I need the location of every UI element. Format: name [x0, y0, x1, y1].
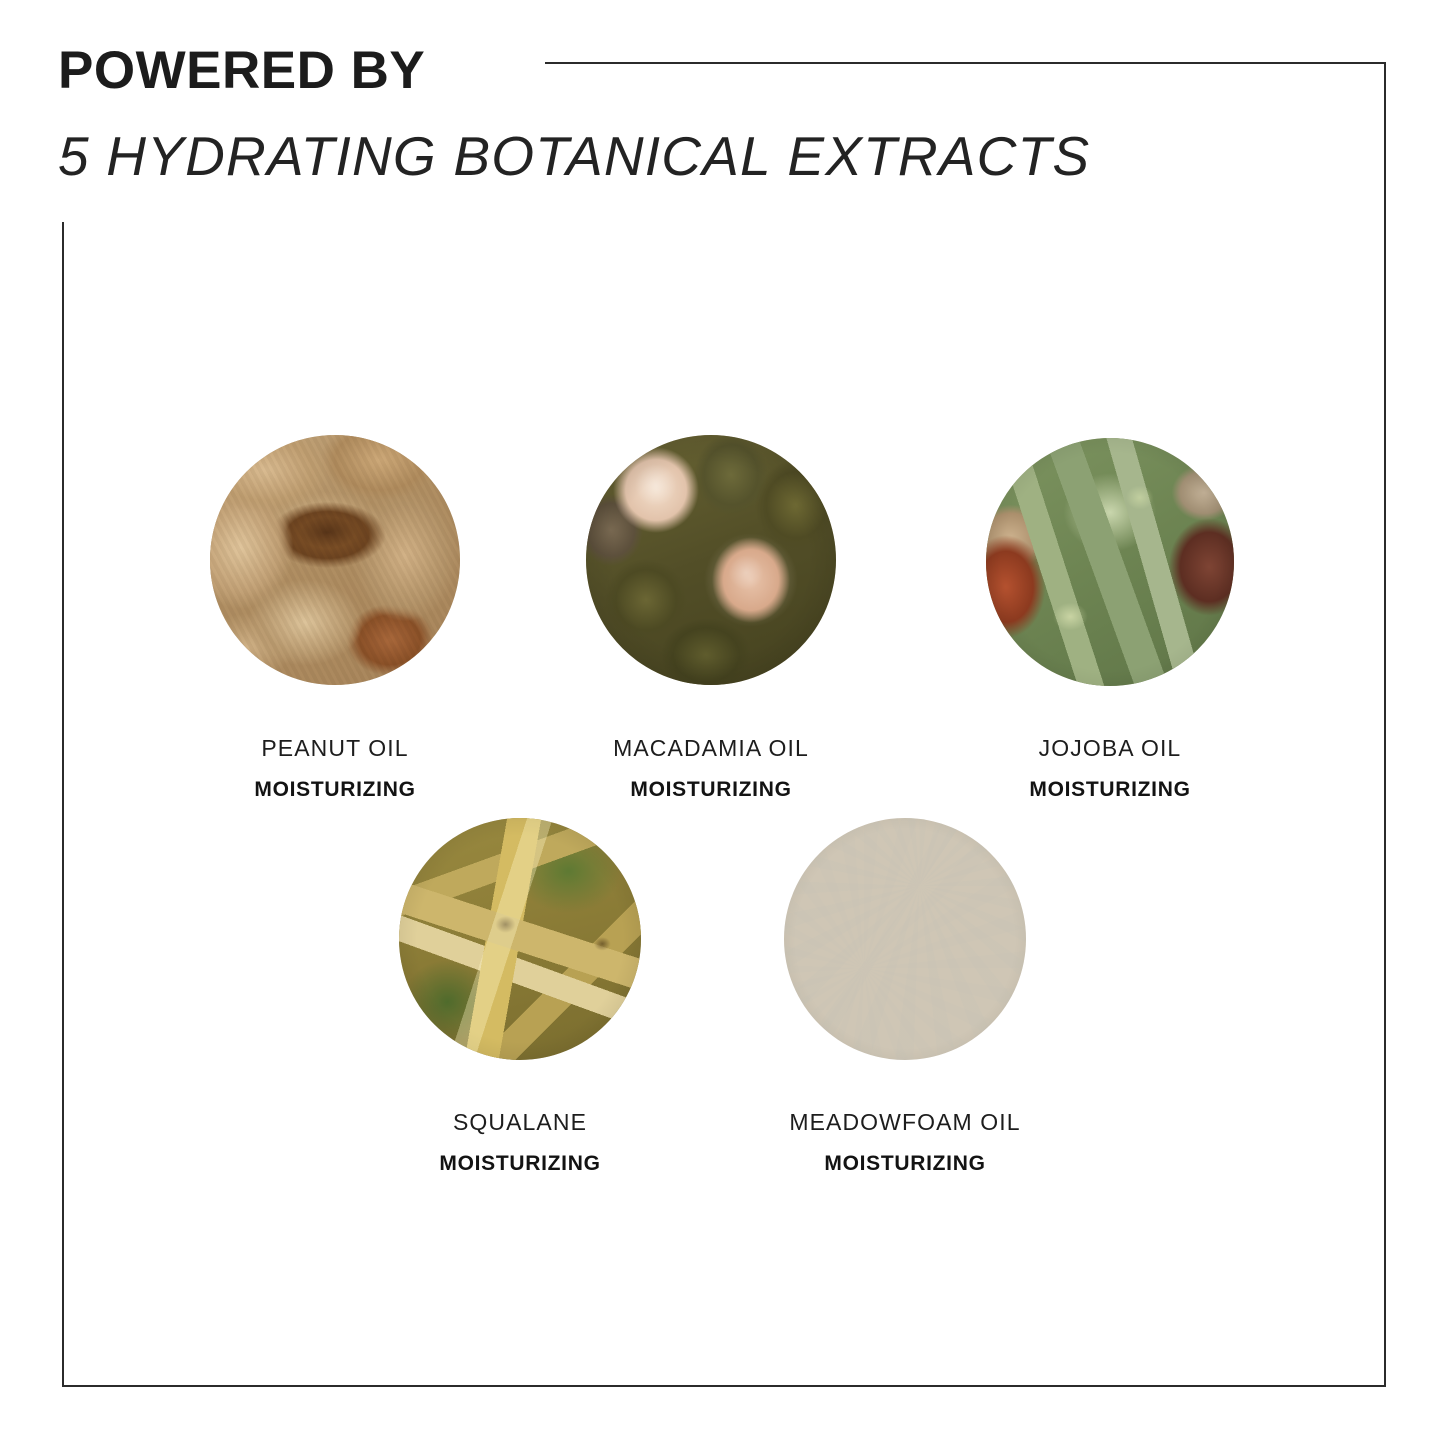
peanut-shells-icon — [210, 435, 460, 685]
frame-right-rule — [1384, 62, 1386, 1387]
ingredient-benefit: MOISTURIZING — [986, 779, 1234, 800]
sugarcane-stalks-icon — [399, 818, 641, 1060]
frame-left-rule — [62, 222, 64, 1387]
ingredient-name: SQUALANE — [399, 1111, 641, 1134]
ingredient-image-peanut-oil — [210, 435, 460, 685]
ingredient-name: JOJOBA OIL — [986, 737, 1234, 760]
ingredient-image-squalane — [399, 818, 641, 1060]
ingredient-name: MEADOWFOAM OIL — [784, 1111, 1026, 1134]
ingredient-image-macadamia-oil — [586, 435, 836, 685]
ingredient-image-meadowfoam-oil — [784, 818, 1026, 1060]
macadamia-nuts-icon — [586, 435, 836, 685]
header: POWERED BY 5 HYDRATING BOTANICAL EXTRACT… — [58, 44, 1258, 184]
ingredient-card-jojoba-oil: JOJOBA OIL MOISTURIZING — [986, 438, 1234, 800]
ingredient-benefit: MOISTURIZING — [784, 1153, 1026, 1174]
ingredient-card-peanut-oil: PEANUT OIL MOISTURIZING — [210, 435, 460, 800]
page-title: 5 HYDRATING BOTANICAL EXTRACTS — [58, 129, 1258, 184]
ingredient-card-meadowfoam-oil: MEADOWFOAM OIL MOISTURIZING — [784, 818, 1026, 1174]
ingredient-benefit: MOISTURIZING — [586, 779, 836, 800]
ingredient-name: PEANUT OIL — [210, 737, 460, 760]
ingredient-name: MACADAMIA OIL — [586, 737, 836, 760]
ingredient-card-macadamia-oil: MACADAMIA OIL MOISTURIZING — [586, 435, 836, 800]
ingredient-benefit: MOISTURIZING — [399, 1153, 641, 1174]
infographic-page: POWERED BY 5 HYDRATING BOTANICAL EXTRACT… — [0, 0, 1445, 1445]
header-eyebrow: POWERED BY — [58, 44, 1258, 97]
ingredient-card-squalane: SQUALANE MOISTURIZING — [399, 818, 641, 1174]
ingredient-image-jojoba-oil — [986, 438, 1234, 686]
meadowfoam-flowers-icon — [784, 818, 1026, 1060]
ingredient-benefit: MOISTURIZING — [210, 779, 460, 800]
frame-bottom-rule — [62, 1385, 1386, 1387]
jojoba-plant-icon — [986, 438, 1234, 686]
